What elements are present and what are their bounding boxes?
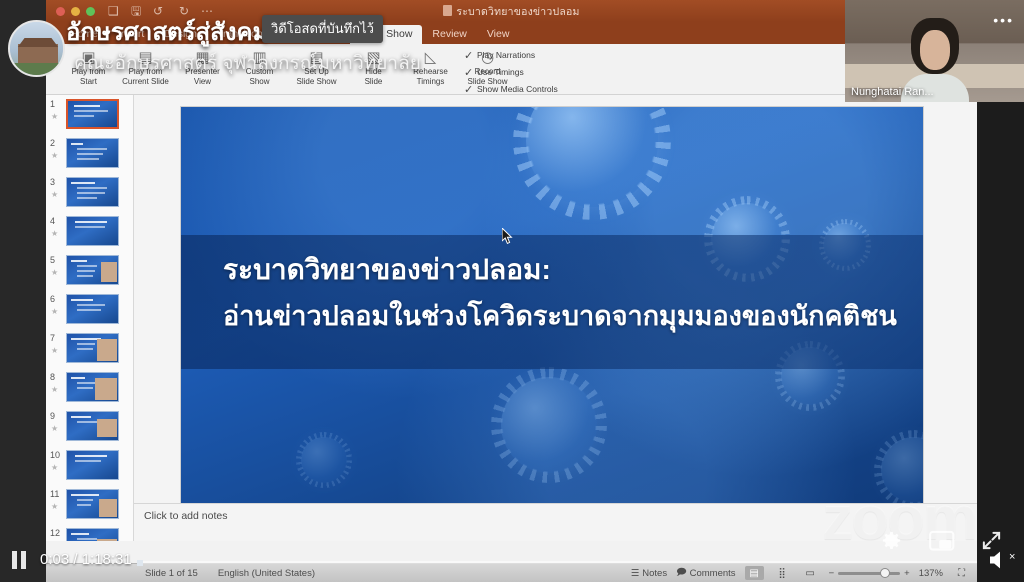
more-options-icon[interactable]: ••• <box>993 12 1014 28</box>
pause-icon[interactable] <box>12 551 28 569</box>
thumbnail-image-placeholder <box>97 539 117 541</box>
slide-number: 10 <box>50 450 60 460</box>
thumbnail-text-line <box>77 158 99 160</box>
slide-animation-star-icon: ★ <box>51 151 58 160</box>
slide-title-line-2: อ่านข่าวปลอมในช่วงโควิดระบาดจากมุมมองของ… <box>223 296 899 336</box>
slide-thumbnail-12[interactable]: 12★ <box>46 524 133 541</box>
comments-toggle-button[interactable]: 🗩 Comments <box>676 565 735 581</box>
zoom-level-label: 137% <box>919 568 943 579</box>
document-title-text: ระบาดวิทยาของข่าวปลอม <box>456 6 579 18</box>
slide-animation-star-icon: ★ <box>51 346 58 355</box>
slide-thumbnail-8[interactable]: 8★ <box>46 368 133 407</box>
slide-thumbnail-6[interactable]: 6★ <box>46 290 133 329</box>
slide-thumbnail-image <box>66 450 119 480</box>
gear-icon[interactable] <box>880 529 903 552</box>
slide-count-label: Slide 1 of 15 <box>145 568 198 579</box>
thumbnail-text-line <box>77 348 93 350</box>
comments-label: Comments <box>690 568 736 579</box>
slide-number: 5 <box>50 255 55 265</box>
thumbnail-text-line <box>77 309 101 311</box>
zoom-slider[interactable]: − + <box>829 568 910 579</box>
thumbnail-image-placeholder <box>99 499 117 517</box>
view-normal-button[interactable]: ▤ <box>745 566 764 580</box>
participant-video-tile[interactable]: ••• Nunghatai Ran... <box>845 0 1024 102</box>
slide-number: 8 <box>50 372 55 382</box>
participant-face <box>920 30 950 70</box>
slide-thumbnail-3[interactable]: 3★ <box>46 173 133 212</box>
slide-thumbnail-image <box>66 216 119 246</box>
slide-thumbnail-11[interactable]: 11★ <box>46 485 133 524</box>
recorded-video-tooltip: วิดีโอสดที่บันทึกไว้ <box>262 15 383 43</box>
zoom-slider-track[interactable] <box>838 572 900 575</box>
slide-thumbnail-image <box>66 489 119 519</box>
thumbnail-text-line <box>71 143 83 145</box>
thumbnail-text-line <box>71 377 85 379</box>
checkbox-label: Show Media Controls <box>477 84 558 94</box>
slide-title-line-1: ระบาดวิทยาของข่าวปลอม: <box>223 250 899 290</box>
slide-animation-star-icon: ★ <box>51 424 58 433</box>
thumbnail-text-line <box>74 115 94 117</box>
overlay-banner-title: อักษรศาสตร์สู่สังคม <box>66 12 268 51</box>
thumbnail-image-placeholder <box>97 339 117 361</box>
zoom-in-button[interactable]: + <box>904 568 910 579</box>
slide-thumbnail-9[interactable]: 9★ <box>46 407 133 446</box>
slide-show-options: ✓Play Narrations✓Use Timings✓Show Media … <box>464 47 558 98</box>
slide-thumbnail-7[interactable]: 7★ <box>46 329 133 368</box>
thumbnail-image-placeholder <box>101 262 117 282</box>
thumbnail-text-line <box>74 110 108 112</box>
editor-main-area: 1★2★3★4★5★6★7★8★9★10★11★12★ ระบาดวิทยาขอ… <box>46 95 977 541</box>
powerpoint-window: ❑ 🖫 ↺ ↻ ⋯ ระบาดวิทยาของข่าวปลอม ⌕Search … <box>46 0 977 582</box>
slide-animation-star-icon: ★ <box>51 229 58 238</box>
slide-animation-star-icon: ★ <box>51 502 58 511</box>
zoom-recording-screen: ❑ 🖫 ↺ ↻ ⋯ ระบาดวิทยาของข่าวปลอม ⌕Search … <box>0 0 1024 582</box>
player-left-strip <box>0 0 46 582</box>
slide-number: 11 <box>50 489 59 499</box>
virus-graphic <box>501 377 597 473</box>
ribbon-tab-review[interactable]: Review <box>422 25 476 44</box>
thumbnail-text-line <box>77 343 95 345</box>
checkbox-play-narrations[interactable]: ✓Play Narrations <box>464 47 558 63</box>
status-bar: Slide 1 of 15 English (United States) ☰ … <box>46 563 977 582</box>
thumbnail-text-line <box>77 148 107 150</box>
checkmark-icon: ✓ <box>464 83 477 96</box>
slide-number: 2 <box>50 138 55 148</box>
thumbnail-text-line <box>75 460 101 462</box>
slide-thumbnail-image <box>66 138 119 168</box>
organization-logo <box>8 20 65 77</box>
logo-ground <box>10 63 65 75</box>
playback-time: 0:03 / 1:18:31 <box>40 551 132 568</box>
slide-number: 7 <box>50 333 55 343</box>
thumbnail-text-line <box>77 504 91 506</box>
thumbnail-text-line <box>71 260 87 262</box>
virus-graphic <box>881 437 923 503</box>
zoom-slider-knob[interactable] <box>880 568 890 578</box>
participant-name: Nunghatai Ran... <box>851 86 934 98</box>
thumbnail-text-line <box>75 455 107 457</box>
language-label: English (United States) <box>218 568 315 579</box>
thumbnail-text-line <box>77 153 103 155</box>
slide-animation-star-icon: ★ <box>51 385 58 394</box>
slide-title-block[interactable]: ระบาดวิทยาของข่าวปลอม: อ่านข่าวปลอมในช่ว… <box>223 250 899 336</box>
thumbnail-image-placeholder <box>97 419 117 437</box>
slide-animation-star-icon: ★ <box>51 268 58 277</box>
thumbnail-text-line <box>77 382 95 384</box>
screen-layout-icon[interactable] <box>929 530 955 552</box>
thumbnail-text-line <box>77 197 97 199</box>
mute-x-mark: × <box>1009 551 1015 563</box>
thumbnail-text-line <box>75 226 105 228</box>
virus-graphic <box>301 437 347 483</box>
thumbnail-text-line <box>77 538 97 540</box>
slide-thumbnail-image <box>66 177 119 207</box>
thumbnail-text-line <box>74 105 100 107</box>
notes-icon: ☰ <box>631 568 640 579</box>
comments-icon: 🗩 <box>676 565 687 581</box>
thumbnail-text-line <box>77 192 105 194</box>
notes-placeholder: Click to add notes <box>144 510 227 522</box>
thumbnail-text-line <box>71 494 99 496</box>
player-controls <box>880 529 1002 552</box>
slide-number: 3 <box>50 177 55 187</box>
checkmark-icon: ✓ <box>464 66 477 79</box>
slide-thumbnail-5[interactable]: 5★ <box>46 251 133 290</box>
overlay-banner-subtitle: คณะอักษรศาสตร์ จุฬาลงกรณ์มหาวิทยาลัย <box>74 48 421 78</box>
fit-to-window-icon[interactable]: ⛶ <box>952 566 971 580</box>
ribbon-tab-view[interactable]: View <box>477 25 520 44</box>
thumbnail-text-line <box>77 387 93 389</box>
slide-thumbnail-image <box>66 294 119 324</box>
slide-thumbnail-1[interactable]: 1★ <box>46 95 133 134</box>
notes-pane[interactable]: Click to add notes <box>134 503 977 541</box>
slide-number: 9 <box>50 411 55 421</box>
slide-number: 1 <box>50 99 55 109</box>
fullscreen-icon[interactable] <box>981 530 1002 551</box>
notes-label: Notes <box>642 568 667 579</box>
notes-toggle-button[interactable]: ☰ Notes <box>631 568 667 579</box>
checkmark-icon: ✓ <box>464 49 477 62</box>
slide-thumbnail-image <box>66 333 119 363</box>
slide-animation-star-icon: ★ <box>51 307 58 316</box>
status-bar-right-tools: ☰ Notes 🗩 Comments ▤ ⣿ ▭ − + 137% <box>631 565 971 581</box>
slide-canvas[interactable]: ระบาดวิทยาของข่าวปลอม: อ่านข่าวปลอมในช่ว… <box>134 95 977 541</box>
slide-thumbnail-image <box>66 255 119 285</box>
slide-thumbnail-image <box>66 411 119 441</box>
slide-number: 12 <box>50 528 60 538</box>
thumbnail-text-line <box>77 270 95 272</box>
thumbnail-text-line <box>71 533 89 535</box>
slide-number: 6 <box>50 294 55 304</box>
slide-thumbnail-panel[interactable]: 1★2★3★4★5★6★7★8★9★10★11★12★ <box>46 95 134 541</box>
thumbnail-text-line <box>77 265 97 267</box>
thumbnail-text-line <box>77 499 93 501</box>
slide-thumbnail-image <box>66 99 119 129</box>
checkbox-use-timings[interactable]: ✓Use Timings <box>464 64 558 80</box>
checkbox-label: Use Timings <box>477 67 524 77</box>
thumbnail-text-line <box>77 275 93 277</box>
virus-graphic <box>526 107 658 207</box>
zoom-out-button[interactable]: − <box>829 568 835 579</box>
checkbox-label: Play Narrations <box>477 50 535 60</box>
thumbnail-text-line <box>77 304 105 306</box>
playback-position-handle[interactable] <box>137 560 143 566</box>
thumbnail-text-line <box>71 416 91 418</box>
thumbnail-text-line <box>71 182 95 184</box>
current-slide[interactable]: ระบาดวิทยาของข่าวปลอม: อ่านข่าวปลอมในช่ว… <box>181 107 923 523</box>
thumbnail-text-line <box>75 221 107 223</box>
slide-thumbnail-10[interactable]: 10★ <box>46 446 133 485</box>
view-reading-button[interactable]: ▭ <box>801 566 820 580</box>
slide-thumbnail-2[interactable]: 2★ <box>46 134 133 173</box>
thumbnail-image-placeholder <box>95 378 117 400</box>
slide-thumbnail-4[interactable]: 4★ <box>46 212 133 251</box>
powerpoint-file-icon <box>443 5 452 16</box>
view-slide-sorter-button[interactable]: ⣿ <box>773 566 792 580</box>
slide-animation-star-icon: ★ <box>51 112 58 121</box>
mouse-cursor <box>502 228 513 244</box>
playback-scrubber[interactable] <box>137 561 977 564</box>
slide-animation-star-icon: ★ <box>51 190 58 199</box>
thumbnail-text-line <box>77 187 107 189</box>
thumbnail-text-line <box>71 299 93 301</box>
slide-number: 4 <box>50 216 55 226</box>
slide-animation-star-icon: ★ <box>51 463 58 472</box>
thumbnail-text-line <box>77 421 99 423</box>
slide-thumbnail-image <box>66 528 119 541</box>
slide-thumbnail-image <box>66 372 119 402</box>
